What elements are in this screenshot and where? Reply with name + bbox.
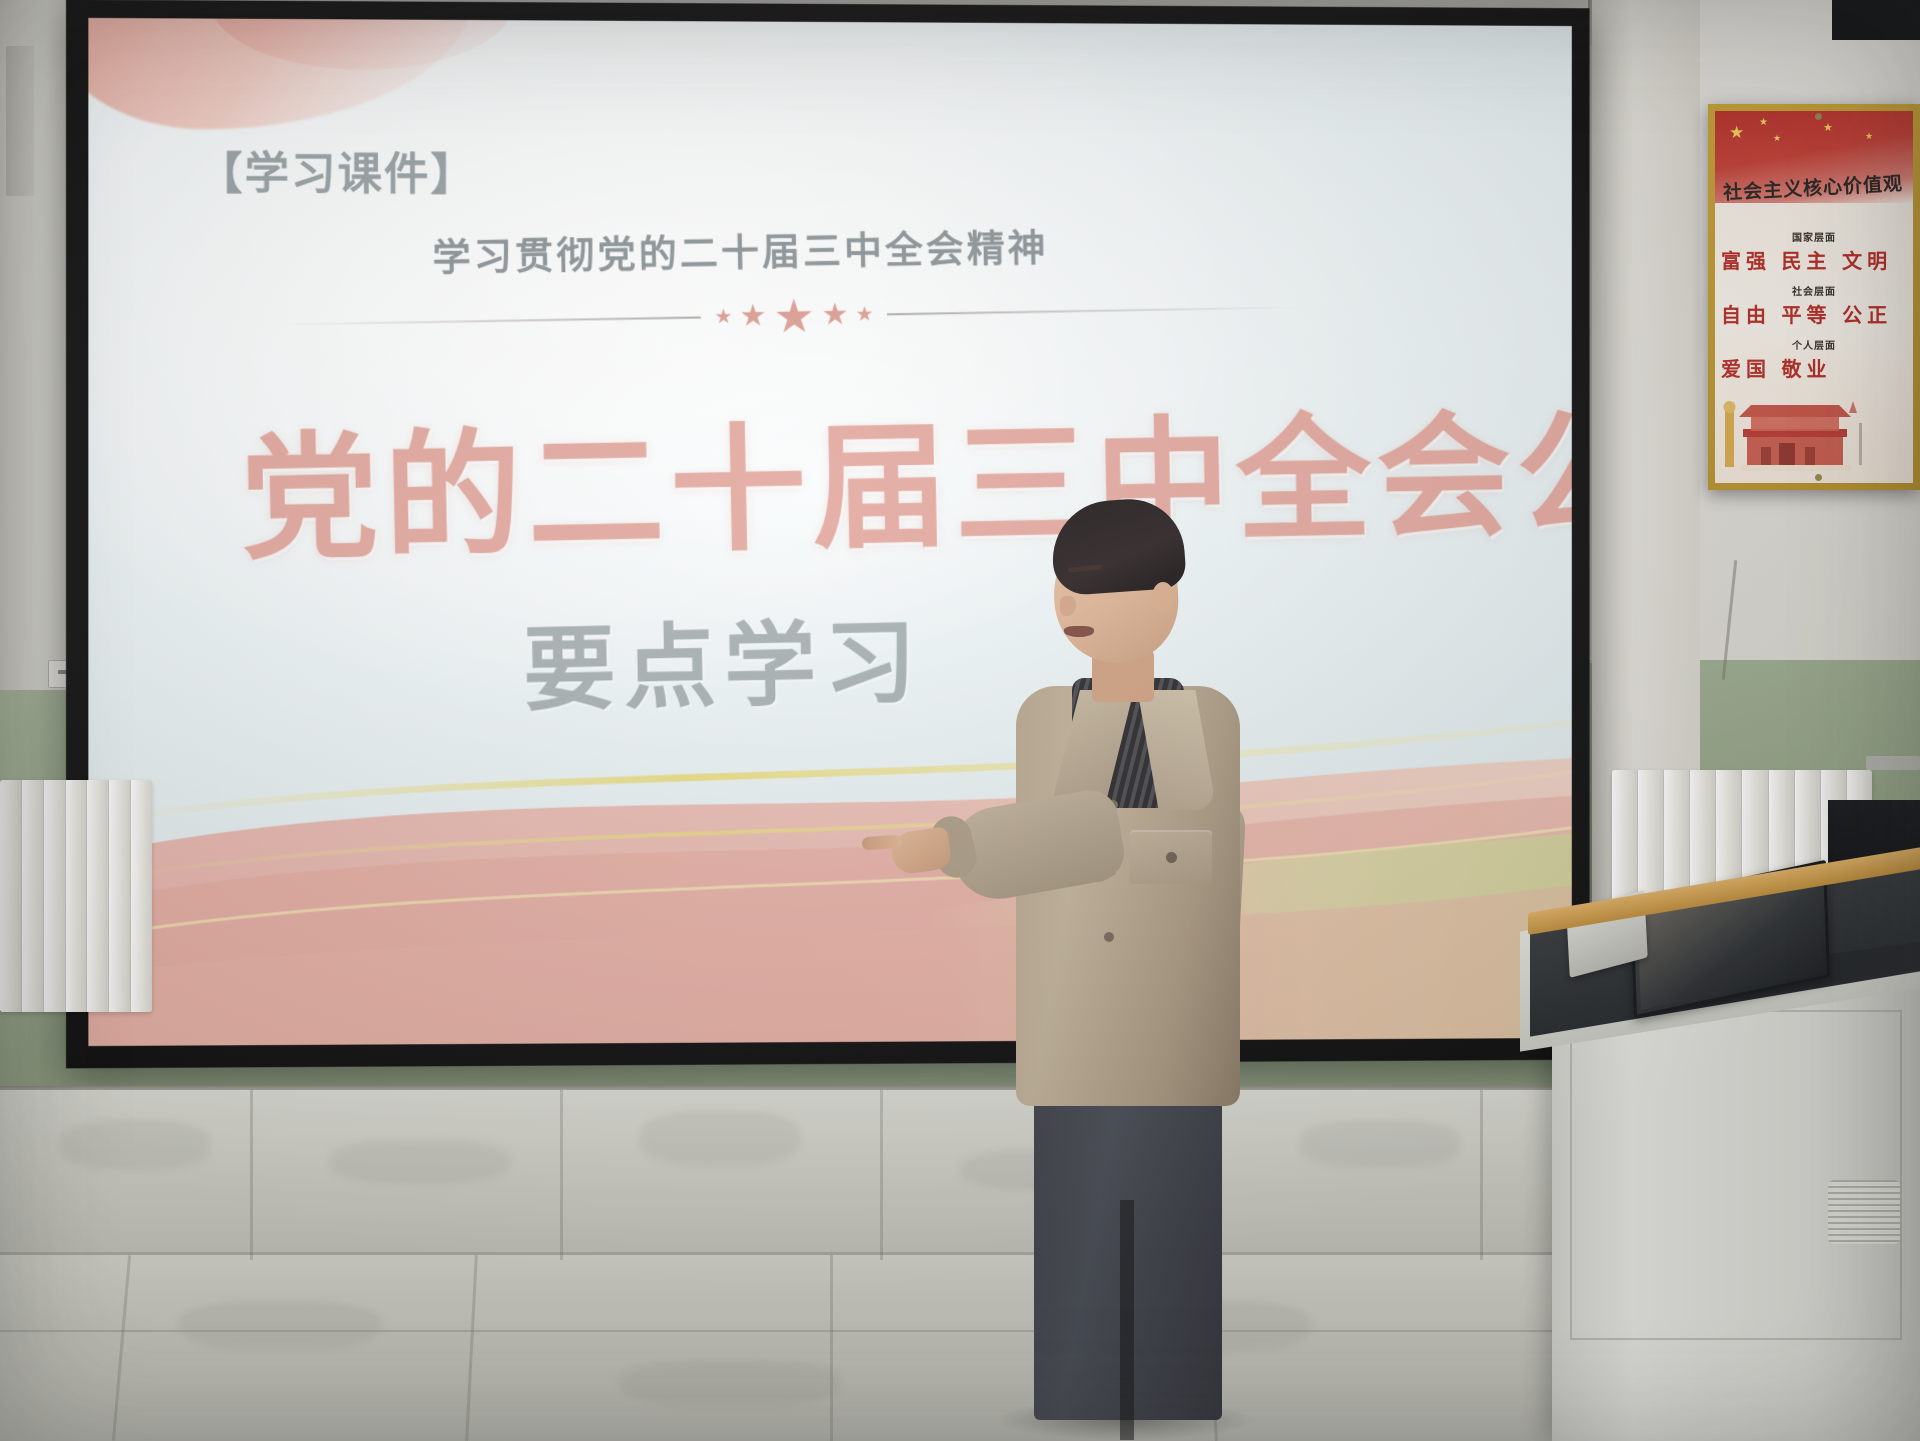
star-icon: ★ [1729, 123, 1744, 143]
presenter-mouth [1064, 626, 1094, 637]
poster-level-label: 国家层面 [1715, 229, 1913, 244]
poster-values-national: 富强 民主 文明 [1721, 245, 1913, 274]
poster-inner: ★ ★ ★ ★ ★ 社会主义核心价值观 国家层面 富强 民主 文明 社会层面 自… [1715, 111, 1913, 483]
wall-duct [6, 46, 34, 196]
star-icon: ★ [773, 293, 815, 340]
tile-seam [880, 1090, 883, 1260]
radiator-fin [87, 780, 109, 1012]
slide-tag: 【学习课件】 [198, 137, 477, 202]
presenter-ear [1152, 582, 1174, 612]
wall-bracket [1866, 756, 1920, 770]
lecture-hall-photo: 【学习课件】 学习贯彻党的二十届三中全会精神 ★ ★ ★ ★ ★ 党的二十届三中… [0, 0, 1920, 1441]
marble-vein [330, 1140, 510, 1184]
star-icon: ★ [1823, 121, 1833, 134]
tile-seam [830, 1255, 833, 1441]
star-group: ★ ★ ★ ★ ★ [714, 292, 874, 341]
tile-seam [1480, 1090, 1483, 1260]
poster-screw [1815, 113, 1822, 120]
marble-vein [180, 1300, 380, 1350]
star-icon: ★ [1773, 133, 1781, 144]
core-values-poster: ★ ★ ★ ★ ★ 社会主义核心价值观 国家层面 富强 民主 文明 社会层面 自… [1708, 104, 1920, 490]
poster-values-social: 自由 平等 公正 [1721, 299, 1913, 328]
marble-vein [640, 1110, 800, 1166]
star-icon: ★ [855, 305, 873, 325]
radiator-left [0, 780, 152, 1012]
radiator-fin [66, 780, 88, 1012]
star-icon: ★ [1759, 117, 1768, 128]
projection-screen-frame: 【学习课件】 学习贯彻党的二十届三中全会精神 ★ ★ ★ ★ ★ 党的二十届三中… [66, 0, 1590, 1068]
marble-vein [620, 1360, 840, 1406]
slide-wave-decoration [88, 701, 1571, 1046]
tile-seam [250, 1090, 253, 1260]
poster-level-label: 个人层面 [1715, 337, 1913, 352]
poster-level-label: 社会层面 [1715, 283, 1913, 298]
slide-subtitle: 要点学习 [522, 588, 925, 729]
lectern-panel [1570, 1010, 1902, 1340]
presenter-hair [1049, 496, 1187, 597]
tile-seam [560, 1090, 563, 1260]
pointing-finger [862, 835, 903, 851]
projection-screen: 【学习课件】 学习贯彻党的二十届三中全会精神 ★ ★ ★ ★ ★ 党的二十届三中… [88, 18, 1571, 1046]
tiananmen-gate-illustration [1721, 389, 1871, 477]
speaker-grille [1828, 1180, 1900, 1244]
radiator-fin [109, 780, 131, 1012]
radiator-fin [131, 780, 152, 1012]
poster-values-personal: 爱国 敬业 [1721, 353, 1913, 382]
radiator-fin [0, 780, 22, 1012]
poster-screw [1815, 474, 1822, 481]
marble-vein [1300, 1120, 1460, 1168]
star-icon: ★ [1865, 131, 1873, 142]
pocket-button [1166, 852, 1177, 863]
divider-bar-right [887, 306, 1301, 315]
trouser-seam [1120, 1200, 1134, 1440]
radiator-fin [44, 780, 66, 1012]
star-icon: ★ [714, 307, 732, 327]
divider-bar-left [281, 316, 700, 325]
jacket-button [1104, 932, 1114, 942]
star-icon: ★ [739, 301, 767, 331]
star-icon: ★ [821, 300, 848, 330]
slide-title: 党的二十届三中全会公报 [239, 365, 1572, 587]
wall-display-edge [1832, 0, 1920, 40]
radiator-fin [22, 780, 44, 1012]
marble-vein [60, 1120, 210, 1170]
slide-star-divider: ★ ★ ★ ★ ★ [281, 285, 1302, 346]
slide-subtitle-top: 学习贯彻党的二十届三中全会精神 [432, 217, 1049, 282]
presenter [980, 500, 1260, 1441]
